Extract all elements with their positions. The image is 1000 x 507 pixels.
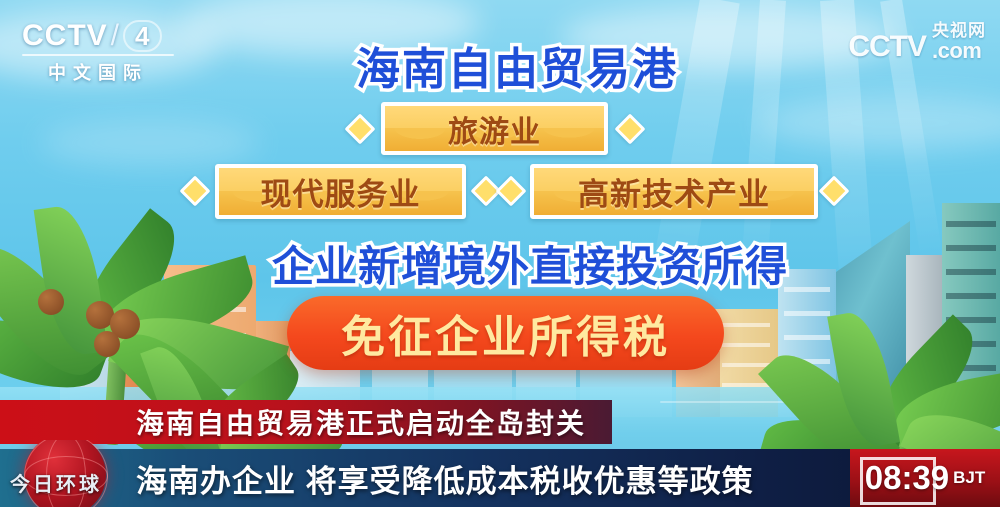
- graphic-subheading: 企业新增境外直接投资所得: [272, 233, 788, 294]
- industry-tag-label: 旅游业: [448, 107, 541, 151]
- channel-logo-subtitle: 中文国际: [22, 59, 174, 85]
- channel-logo-divider: [22, 54, 174, 56]
- channel-logo-brand: CCTV: [22, 20, 108, 52]
- channel-logo-slash: /: [111, 20, 120, 52]
- cloud-shape: [40, 120, 260, 166]
- industry-tag-high-tech: 高新技术产业: [530, 164, 818, 219]
- graphic-title: 海南自由贸易港: [356, 33, 678, 97]
- cloud-shape: [760, 96, 1000, 150]
- industry-tag-modern-services: 现代服务业: [215, 164, 466, 219]
- watermark-com: .com: [932, 40, 981, 62]
- tax-exemption-callout-label: 免征企业所得税: [341, 301, 670, 365]
- diamond-icon: [614, 113, 645, 144]
- news-banner-top: 海南自由贸易港正式启动全岛封关: [0, 400, 612, 444]
- program-logo-label: 今日环球: [10, 468, 102, 497]
- clock-timezone: BJT: [953, 468, 985, 488]
- program-logo: 今日环球: [6, 440, 132, 507]
- cctv-com-watermark: CCTV 央视网 .com: [848, 16, 986, 62]
- industry-tag-tourism: 旅游业: [381, 102, 608, 155]
- channel-logo-number: 4: [123, 20, 162, 52]
- diamond-icon: [495, 175, 526, 206]
- news-banner-bottom-text: 海南办企业 将享受降低成本税收优惠等政策: [136, 456, 754, 501]
- channel-logo: CCTV / 4 中文国际: [22, 20, 174, 86]
- news-banner-top-text: 海南自由贸易港正式启动全岛封关: [136, 402, 586, 442]
- industry-tag-label: 现代服务业: [261, 169, 421, 214]
- industry-tag-label: 高新技术产业: [578, 169, 770, 214]
- diamond-icon: [344, 113, 375, 144]
- clock-widget: 08:39 BJT: [850, 449, 1000, 507]
- tax-exemption-callout: 免征企业所得税: [287, 296, 724, 370]
- broadcast-screen: 海南自由贸易港 旅游业 现代服务业 高新技术产业 企业新增境外直接投资所得 免征…: [0, 0, 1000, 507]
- watermark-brand: CCTV: [848, 32, 926, 62]
- channel-logo-row: CCTV / 4: [22, 20, 174, 52]
- clock-time: 08:39: [865, 459, 949, 497]
